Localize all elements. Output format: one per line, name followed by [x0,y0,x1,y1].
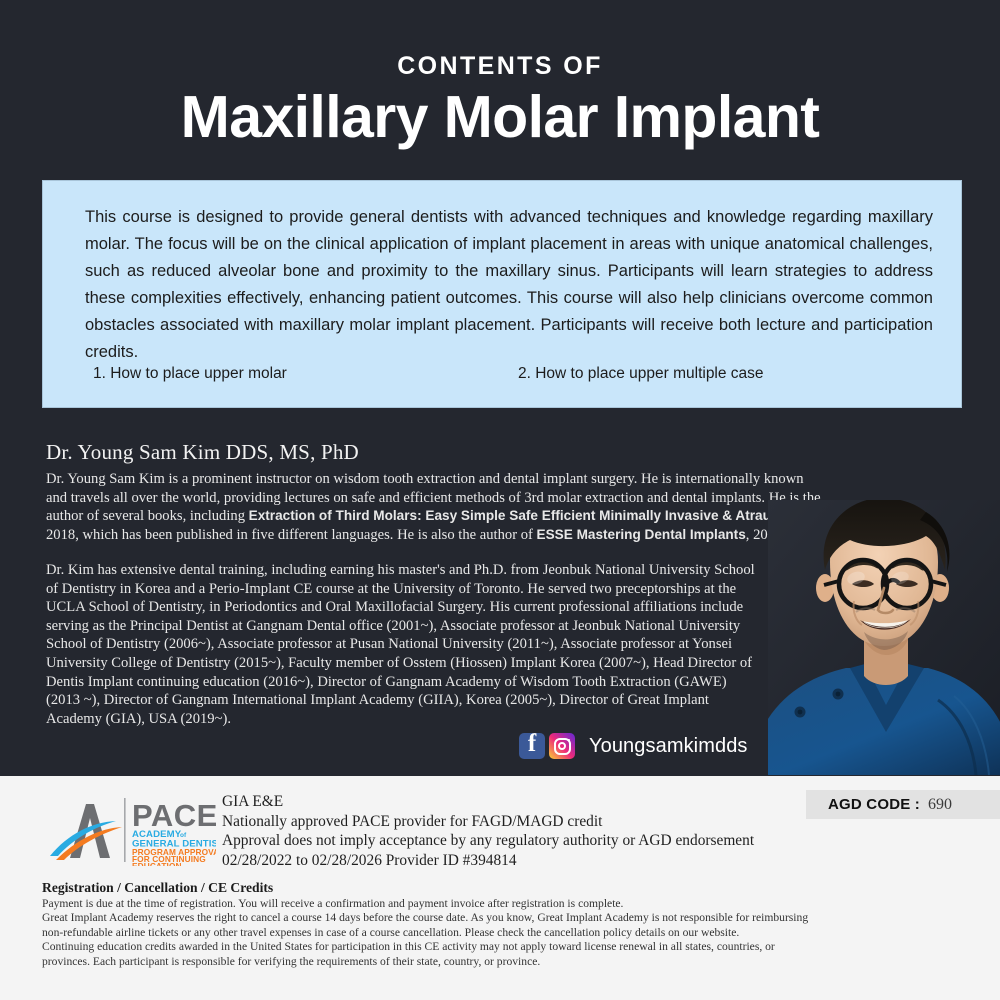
svg-text:PACE: PACE [132,798,216,833]
policy-line: Payment is due at the time of registrati… [42,897,966,911]
registration-policy-title: Registration / Cancellation / CE Credits [42,880,273,896]
social-handle: Youngsamkimdds [589,735,748,758]
policy-line: Continuing education credits awarded in … [42,940,966,954]
eyebrow-text: CONTENTS OF [0,52,1000,81]
course-poster: CONTENTS OF Maxillary Molar Implant This… [0,0,1000,1000]
registration-policy-text: Payment is due at the time of registrati… [42,897,966,969]
course-description-text: This course is designed to provide gener… [85,204,933,366]
poster-header: CONTENTS OF Maxillary Molar Implant [0,0,1000,170]
course-topics-list: 1. How to place upper molar 2. How to pl… [93,365,943,383]
policy-line: non-refundable airline tickets or any ot… [42,926,966,940]
course-description-box: This course is designed to provide gener… [42,180,962,408]
agd-code-label: AGD CODE : [828,796,920,813]
list-item: 1. How to place upper molar [93,365,518,383]
page-title: Maxillary Molar Implant [0,84,1000,150]
instructor-bio-paragraph-1: Dr. Young Sam Kim is a prominent instruc… [46,470,828,544]
pace-accreditation-block: GIA E&E Nationally approved PACE provide… [222,792,802,870]
agd-code-badge: AGD CODE : 690 [806,790,1000,819]
book-title-1: Extraction of Third Molars: Easy Simple … [249,508,807,523]
instructor-name: Dr. Young Sam Kim DDS, MS, PhD [46,440,359,465]
pace-line: Approval does not imply acceptance by an… [222,831,802,851]
social-media-row: Youngsamkimdds [519,730,748,762]
pace-logo: PACE ACADEMY of GENERAL DENTISTRY PROGRA… [44,794,216,866]
book-title-2: ESSE Mastering Dental Implants [537,527,746,542]
pace-line: 02/28/2022 to 02/28/2026 Provider ID #39… [222,851,802,871]
facebook-icon[interactable] [519,733,545,759]
instructor-portrait-photo [768,500,1000,775]
policy-line: provinces. Each participant is responsib… [42,955,966,969]
policy-line: Great Implant Academy reserves the right… [42,911,966,925]
instructor-bio-paragraph-2: Dr. Kim has extensive dental training, i… [46,561,762,728]
pace-line: Nationally approved PACE provider for FA… [222,812,802,832]
pace-line: GIA E&E [222,792,802,812]
instagram-icon[interactable] [549,733,575,759]
svg-text:EDUCATION: EDUCATION [132,861,182,866]
list-item: 2. How to place upper multiple case [518,365,764,383]
agd-code-value: 690 [928,796,952,814]
poster-footer: AGD CODE : 690 PACE ACADEMY of GENERAL D… [0,776,1000,1000]
